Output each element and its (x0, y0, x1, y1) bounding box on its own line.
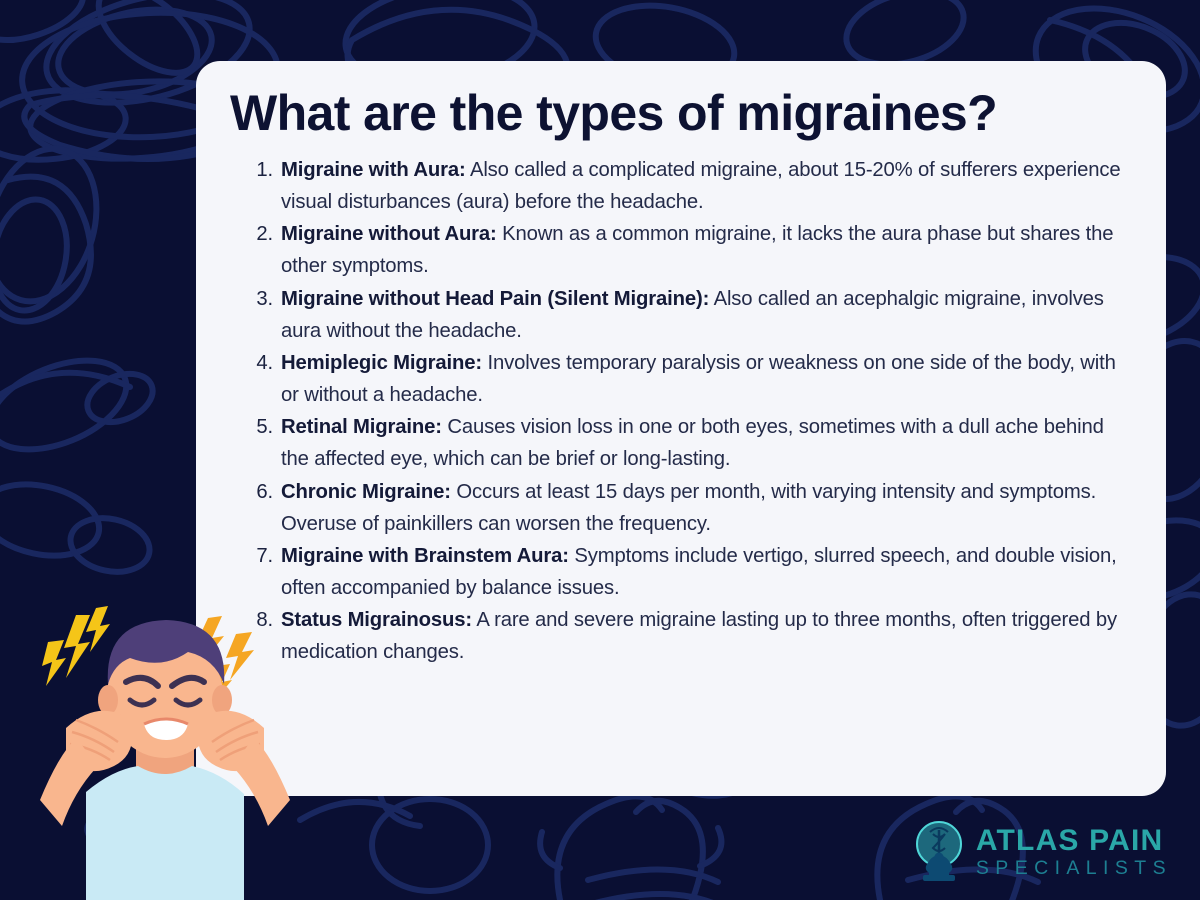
list-item: Migraine with Aura: Also called a compli… (230, 154, 1136, 218)
list-item-term: Hemiplegic Migraine: (281, 352, 482, 374)
list-item: Migraine without Aura: Known as a common… (230, 218, 1136, 282)
logo-wordmark: ATLAS PAIN SPECIALISTS (976, 826, 1172, 879)
list-item-term: Chronic Migraine: (281, 481, 451, 503)
list-item: Status Migrainosus: A rare and severe mi… (230, 604, 1136, 668)
brand-logo[interactable]: ATLAS PAIN SPECIALISTS (910, 820, 1172, 884)
page-title: What are the types of migraines? (230, 87, 1136, 140)
list-item-term: Migraine without Head Pain (Silent Migra… (281, 288, 709, 310)
list-item-term: Migraine with Aura: (281, 159, 466, 181)
lightning-bolt-icon (42, 606, 110, 686)
migraine-types-list: Migraine with Aura: Also called a compli… (230, 154, 1136, 669)
content-card: What are the types of migraines? Migrain… (196, 61, 1166, 796)
shirt-hem (86, 858, 244, 900)
ear-right (212, 685, 232, 715)
person-with-headache-illustration (40, 600, 290, 900)
list-item-term: Migraine with Brainstem Aura: (281, 545, 569, 567)
logo-line-primary: ATLAS PAIN (976, 826, 1172, 856)
list-item-term: Retinal Migraine: (281, 416, 442, 438)
list-item-term: Migraine without Aura: (281, 223, 497, 245)
infographic-canvas: What are the types of migraines? Migrain… (0, 0, 1200, 900)
atlas-globe-caduceus-icon (910, 820, 968, 884)
ear-left (98, 685, 118, 715)
list-item: Hemiplegic Migraine: Involves temporary … (230, 347, 1136, 411)
list-item: Migraine without Head Pain (Silent Migra… (230, 283, 1136, 347)
list-item: Chronic Migraine: Occurs at least 15 day… (230, 476, 1136, 540)
list-item-term: Status Migrainosus: (281, 609, 472, 631)
logo-line-secondary: SPECIALISTS (976, 859, 1172, 879)
list-item: Retinal Migraine: Causes vision loss in … (230, 411, 1136, 475)
list-item: Migraine with Brainstem Aura: Symptoms i… (230, 540, 1136, 604)
